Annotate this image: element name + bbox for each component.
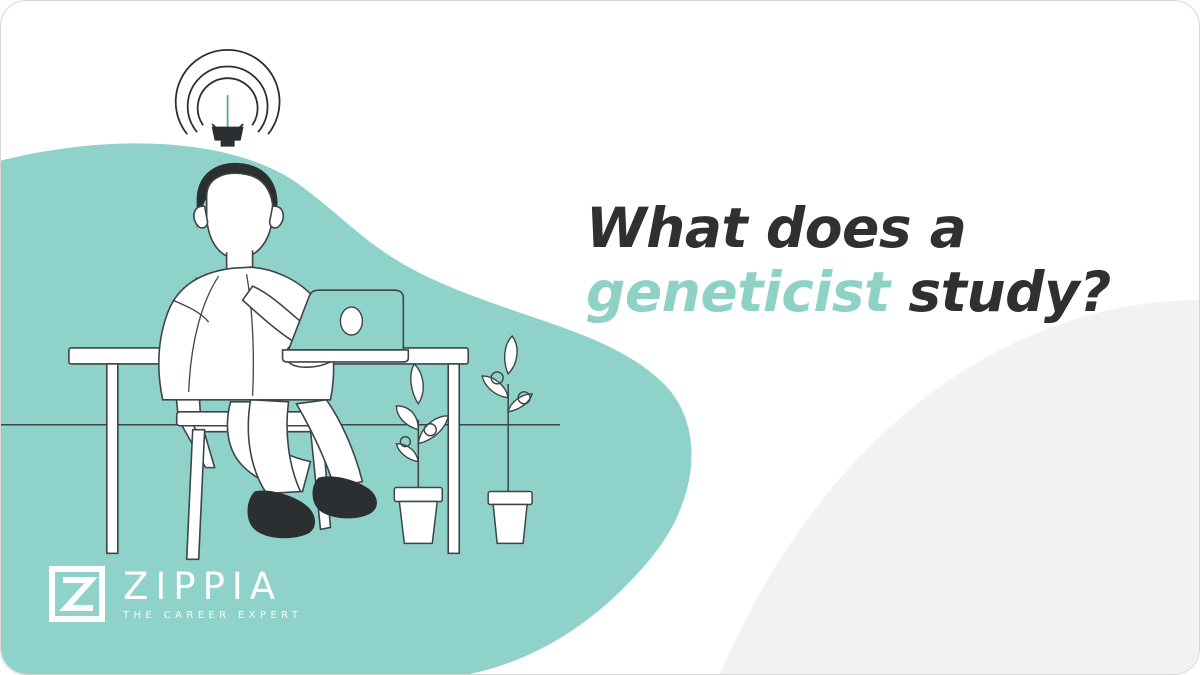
zippia-logo-text: ZIPPIA THE CAREER EXPERT [123,568,302,621]
zippia-tagline: THE CAREER EXPERT [123,611,302,621]
zippia-logo[interactable]: ZIPPIA THE CAREER EXPERT [49,566,302,622]
zippia-z-monogram-icon [49,566,105,622]
promo-card: What does ageneticist study? ZIPPIA THE … [0,0,1200,675]
laptop-logo [340,307,362,335]
zippia-wordmark: ZIPPIA [123,568,302,605]
laptop-base [283,350,409,362]
person-head [207,173,273,258]
